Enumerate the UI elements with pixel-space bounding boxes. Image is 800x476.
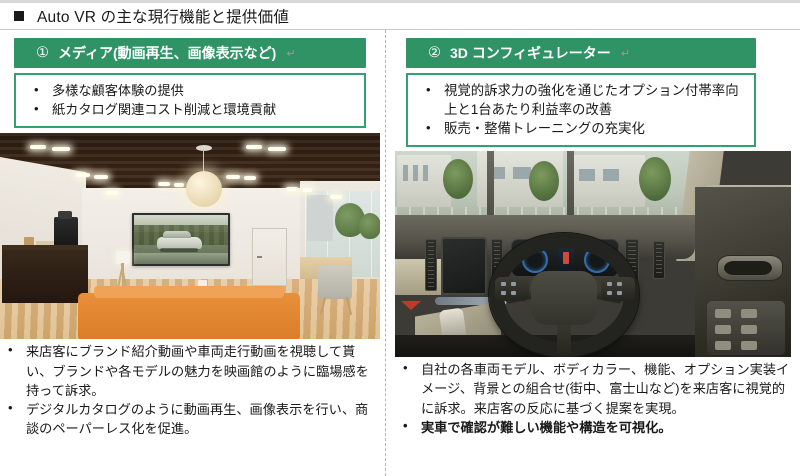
- panel-media-value-list: 多様な顧客体験の提供 紙カタログ関連コスト削減と環境貢献: [26, 82, 358, 119]
- window-switch-panel: [707, 301, 785, 355]
- vr-car-cockpit-image: [395, 151, 791, 357]
- ceiling-light: [268, 147, 286, 151]
- ceiling-light: [302, 188, 312, 192]
- steering-hub-airbag: [531, 271, 597, 325]
- panel-media-header: ① メディア(動画再生、画像表示など) ↵: [14, 38, 366, 68]
- door-handle: [717, 255, 783, 281]
- street-building: [571, 155, 645, 207]
- panel-configurator-value-box: 視覚的訴求力の強化を通じたオプション付帯率向上と1台あたり利益率の改善 販売・整…: [406, 73, 756, 147]
- ceiling-light: [106, 191, 118, 195]
- panel-divider: [385, 30, 386, 476]
- list-item: 自社の各車両モデル、ボディカラー、機能、オプション実装イメージ、背景との組合せ(…: [397, 360, 794, 417]
- panel-media-description: 来店客にブランド紹介動画や車両走行動画を視聴して貰い、ブランドや各モデルの魅力を…: [0, 339, 380, 438]
- panel-media-number: ①: [36, 45, 49, 61]
- sofa: [78, 293, 300, 339]
- screen-suv: [157, 237, 202, 249]
- air-vent: [653, 241, 665, 279]
- panel-media-description-list: 来店客にブランド紹介動画や車両走行動画を視聴して貰い、ブランドや各モデルの魅力を…: [2, 342, 374, 438]
- hazard-indicator-icon: [401, 301, 421, 310]
- ceiling-light: [226, 175, 240, 179]
- steering-buttons-left: [495, 277, 529, 301]
- panel-configurator-number: ②: [428, 45, 441, 61]
- cockpit-illustration: [395, 151, 791, 357]
- panel-media: ① メディア(動画再生、画像表示など) ↵ 多様な顧客体験の提供 紙カタログ関連…: [0, 30, 380, 438]
- ceiling-light: [76, 173, 90, 177]
- windshield-divider: [567, 151, 574, 225]
- air-vent: [425, 239, 437, 291]
- panel-configurator-header: ② 3D コンフィギュレーター ↵: [406, 38, 756, 68]
- page-title: Auto VR の主な現行機能と提供価値: [37, 5, 289, 27]
- windshield-divider: [487, 151, 494, 225]
- panel-media-title: メディア(動画再生、画像表示など): [58, 43, 276, 63]
- steering-spoke: [557, 321, 571, 355]
- panel-configurator: ② 3D コンフィギュレーター ↵ 視覚的訴求力の強化を通じたオプション付帯率向…: [395, 30, 800, 437]
- list-item: デジタルカタログのように動画再生、画像表示を行い、商談のペーパーレス化を促進。: [2, 400, 374, 438]
- list-item: 販売・整備トレーニングの充実化: [418, 120, 748, 139]
- vr-showroom-interior-image: [0, 133, 380, 339]
- list-item: 実車で確認が難しい機能や構造を可視化。: [397, 418, 794, 437]
- panel-configurator-value-list: 視覚的訴求力の強化を通じたオプション付帯率向上と1台あたり利益率の改善 販売・整…: [418, 82, 748, 138]
- street-tree: [639, 157, 671, 201]
- ceiling-light: [330, 195, 342, 199]
- center-touchscreen: [441, 237, 487, 295]
- ceiling-light: [286, 187, 298, 191]
- list-item: 紙カタログ関連コスト削減と環境貢献: [26, 101, 358, 120]
- wall-display-screen: [132, 213, 230, 266]
- ceiling-light: [158, 182, 170, 186]
- slide-top-edge: [0, 0, 800, 3]
- showroom-illustration: [0, 133, 380, 339]
- list-item: 視覚的訴求力の強化を通じたオプション付帯率向上と1台あたり利益率の改善: [418, 82, 748, 120]
- square-bullet-icon: [14, 11, 24, 21]
- list-item: 多様な顧客体験の提供: [26, 82, 358, 101]
- panel-media-value-box: 多様な顧客体験の提供 紙カタログ関連コスト削減と環境貢献: [14, 73, 366, 128]
- ceiling-light: [94, 175, 108, 179]
- door: [252, 228, 287, 286]
- ceiling-light: [174, 183, 184, 187]
- ceiling-light: [244, 176, 256, 180]
- counter-cabinet: [2, 245, 88, 303]
- slide-canvas: Auto VR の主な現行機能と提供価値 ① メディア(動画再生、画像表示など)…: [0, 0, 800, 476]
- windshield: [395, 151, 695, 225]
- lounge-chair: [318, 265, 352, 299]
- exterior-tree: [359, 213, 380, 239]
- pilcrow-icon: ↵: [621, 47, 630, 60]
- ceiling-light: [246, 145, 262, 149]
- screen-water: [134, 253, 228, 265]
- pilcrow-icon: ↵: [286, 47, 295, 60]
- page-title-row: Auto VR の主な現行機能と提供価値: [0, 4, 800, 28]
- pendant-cord: [203, 149, 204, 173]
- panel-configurator-description: 自社の各車両モデル、ボディカラー、機能、オプション実装イメージ、背景との組合せ(…: [395, 357, 800, 437]
- steering-buttons-right: [601, 277, 635, 301]
- street-tree: [443, 159, 473, 199]
- panel-configurator-description-list: 自社の各車両モデル、ボディカラー、機能、オプション実装イメージ、背景との組合せ(…: [397, 360, 794, 437]
- list-item: 来店客にブランド紹介動画や車両走行動画を視聴して貰い、ブランドや各モデルの魅力を…: [2, 342, 374, 399]
- ceiling-light: [30, 145, 46, 149]
- panel-configurator-title: 3D コンフィギュレーター: [450, 43, 611, 63]
- exterior-building: [307, 195, 333, 241]
- ceiling-light: [52, 147, 70, 151]
